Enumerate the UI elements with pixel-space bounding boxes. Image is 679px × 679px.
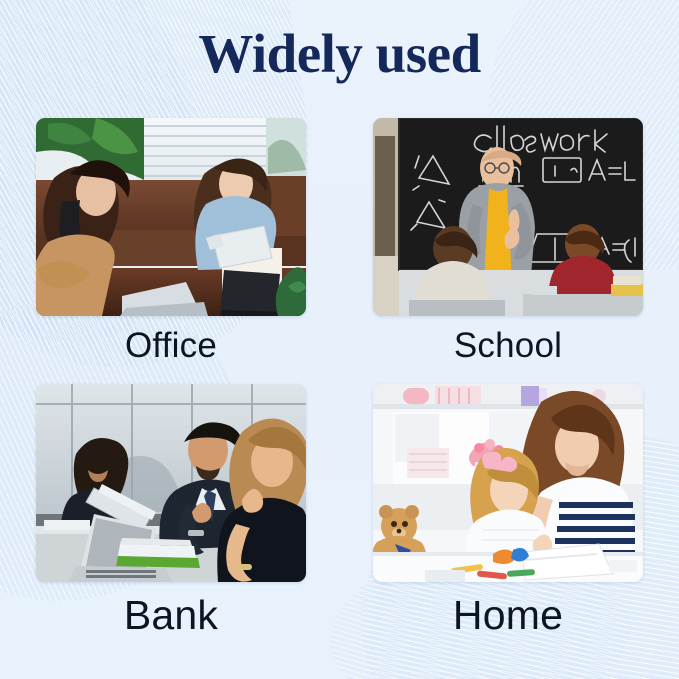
bank-photo [36,384,306,582]
usage-card-label-office: Office [125,326,217,366]
usage-card-label-home: Home [453,592,563,638]
usage-card-home: Home [373,384,643,638]
usage-card-school: Classwork [373,118,643,366]
usage-card-grid: Office [36,118,643,638]
usage-card-label-bank: Bank [124,592,218,638]
page-title: Widely used [0,24,679,84]
office-photo [36,118,306,316]
usage-card-office: Office [36,118,306,366]
usage-card-bank: Bank [36,384,306,638]
poster-root: Widely used [0,0,679,679]
home-photo [373,384,643,582]
school-photo: Classwork [373,118,643,316]
usage-card-label-school: School [454,326,562,366]
